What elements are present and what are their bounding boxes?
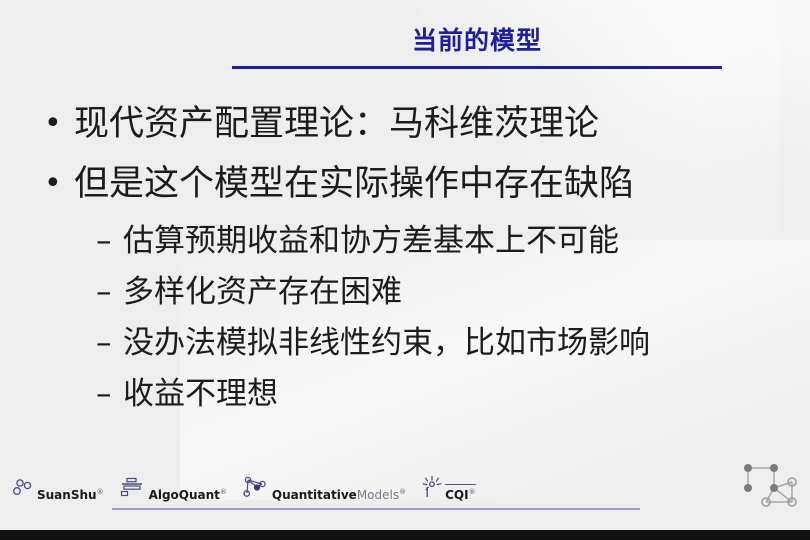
logo-quantitativemodels-name: Quantitative — [272, 488, 357, 502]
bullet-item-level2: – 没办法模拟非线性约束，比如市场影响 — [0, 318, 810, 369]
bullet-item-level1: • 现代资产配置理论：马科维茨理论 — [0, 96, 810, 152]
title-underline-rule — [232, 66, 722, 69]
bullet-list: • 现代资产配置理论：马科维茨理论 • 但是这个模型在实际操作中存在缺陷 – 估… — [0, 96, 810, 420]
logo-algoquant-wordmark: AlgoQuant® — [149, 486, 227, 502]
logo-suanshu-name: SuanShu — [37, 488, 97, 502]
logo-suanshu-wordmark: SuanShu® — [37, 486, 104, 502]
bullet-marker-dot-icon: • — [44, 96, 74, 152]
bullet-marker-dash-icon: – — [96, 318, 123, 369]
logo-algoquant: AlgoQuant® — [120, 476, 227, 502]
starburst-icon — [422, 476, 442, 502]
logo-algoquant-name: AlgoQuant — [149, 488, 220, 502]
slide: 当前的模型 • 现代资产配置理论：马科维茨理论 • 但是这个模型在实际操作中存在… — [0, 0, 810, 540]
network-graph-icon — [243, 476, 269, 502]
logo-quantitativemodels-suffix: Models — [357, 488, 399, 502]
bullet-marker-dash-icon: – — [96, 216, 123, 267]
bullet-item-level2: – 收益不理想 — [0, 369, 810, 420]
bullet-text: 没办法模拟非线性约束，比如市场影响 — [123, 318, 810, 369]
bullet-item-level1: • 但是这个模型在实际操作中存在缺陷 — [0, 156, 810, 212]
logo-cqi-rule — [445, 484, 475, 485]
logo-cqi-tm: ® — [469, 488, 476, 496]
bullet-item-level2: – 多样化资产存在困难 — [0, 267, 810, 318]
logo-cqi-name: CQI — [445, 488, 468, 502]
bullet-marker-dot-icon: • — [44, 156, 74, 212]
logo-quantitativemodels-wordmark: QuantitativeModels® — [272, 486, 406, 502]
footer-divider-rule — [112, 508, 640, 510]
partner-logo-bar: SuanShu® AlgoQuant® — [12, 476, 476, 502]
logo-suanshu-tm: ® — [97, 488, 104, 496]
stacked-bars-icon — [120, 476, 146, 502]
bullet-marker-dash-icon: – — [96, 369, 123, 420]
logo-suanshu: SuanShu® — [12, 478, 104, 502]
bullet-text: 收益不理想 — [123, 369, 810, 420]
logo-quantitativemodels-tm: ® — [399, 488, 406, 496]
bottom-letterbox-bar — [0, 530, 810, 540]
three-circles-icon — [12, 478, 34, 502]
bullet-text: 多样化资产存在困难 — [123, 267, 810, 318]
bullet-text: 估算预期收益和协方差基本上不可能 — [123, 216, 810, 267]
logo-cqi: CQI® — [422, 476, 475, 502]
bullet-text: 但是这个模型在实际操作中存在缺陷 — [74, 156, 810, 212]
logo-algoquant-tm: ® — [220, 488, 227, 496]
bullet-marker-dash-icon: – — [96, 267, 123, 318]
bullet-item-level2: – 估算预期收益和协方差基本上不可能 — [0, 216, 810, 267]
bullet-text: 现代资产配置理论：马科维茨理论 — [74, 96, 810, 152]
slide-title: 当前的模型 — [232, 26, 722, 56]
network-graph-watermark — [740, 458, 802, 516]
logo-cqi-wordmark: CQI® — [445, 486, 475, 502]
slide-footer: SuanShu® AlgoQuant® — [0, 470, 810, 530]
logo-cqi-wordmark-wrap: CQI® — [445, 484, 475, 502]
logo-quantitativemodels: QuantitativeModels® — [243, 476, 406, 502]
